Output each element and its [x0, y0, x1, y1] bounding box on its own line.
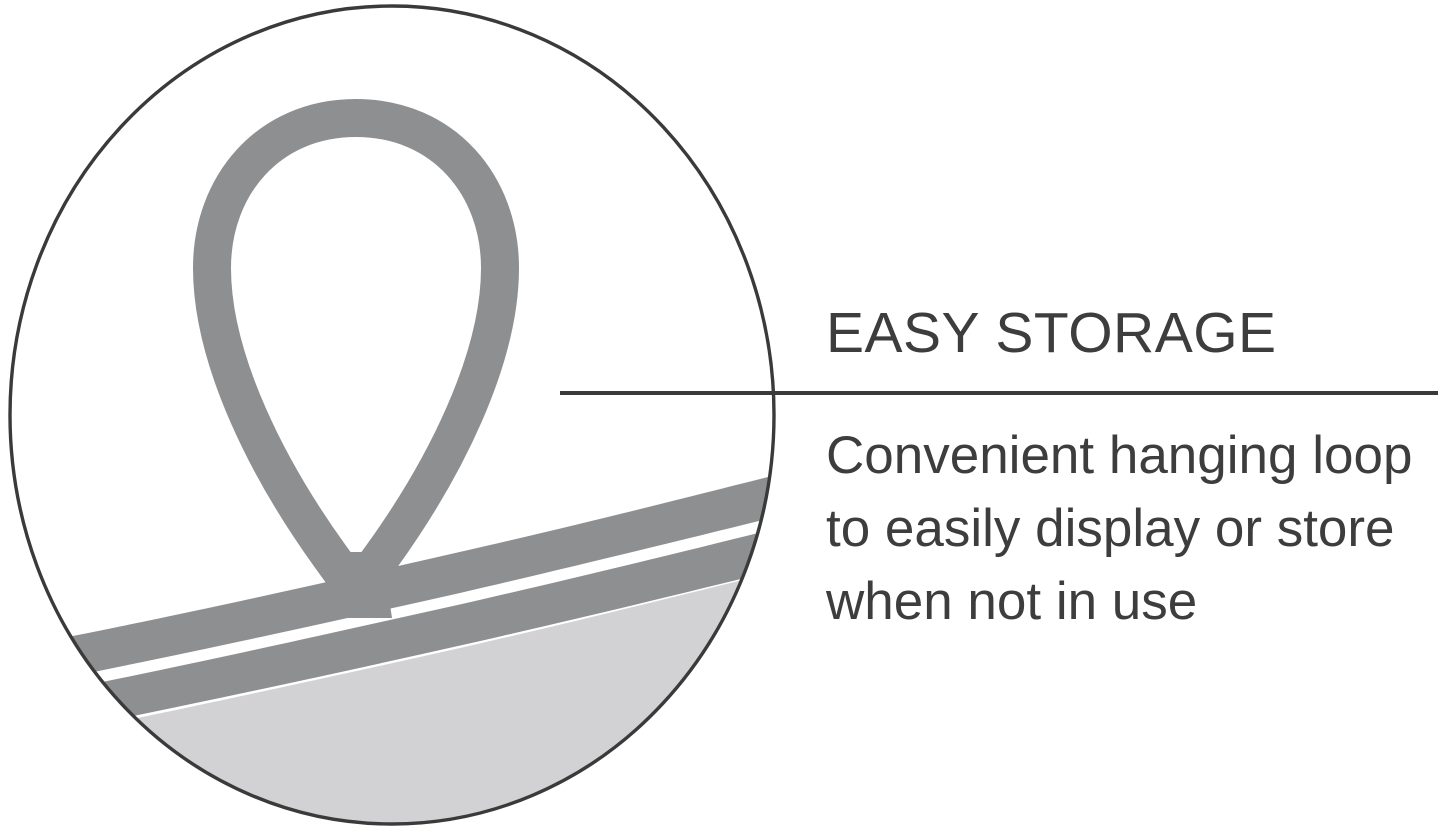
description-line-3: when not in use	[826, 565, 1426, 638]
callout-text-panel: EASY STORAGE	[824, 300, 1434, 366]
callout-description: Convenient hanging loop to easily displa…	[826, 419, 1426, 638]
loop-tail	[330, 552, 392, 618]
leader-line	[560, 391, 1438, 395]
callout-heading: EASY STORAGE	[824, 300, 1434, 366]
feature-callout-card: EASY STORAGE Convenient hanging loop to …	[0, 0, 1445, 840]
description-line-1: Convenient hanging loop	[826, 419, 1426, 492]
description-line-2: to easily display or store	[826, 492, 1426, 565]
